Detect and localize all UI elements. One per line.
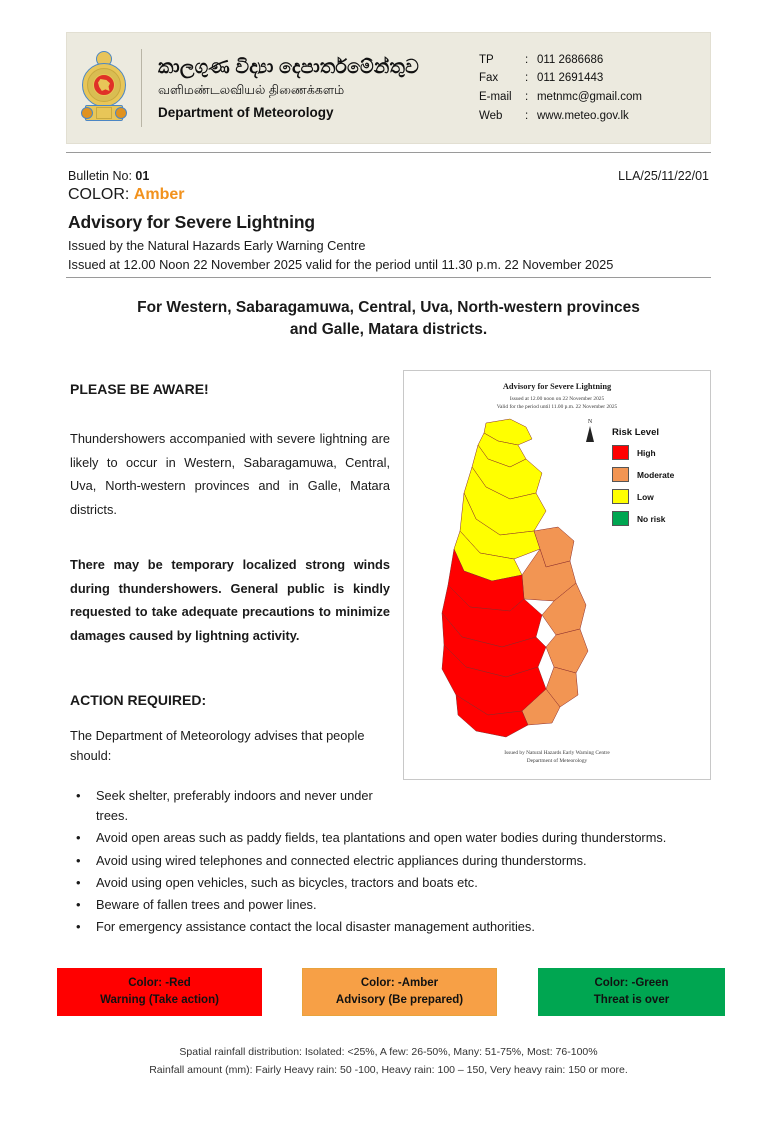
sri-lanka-government-emblem-icon: [81, 51, 127, 125]
footnote-line-1: Spatial rainfall distribution: Isolated:…: [68, 1044, 709, 1062]
map-footer-line-2: Department of Meteorology: [404, 757, 710, 765]
contact-value-fax: 011 2691443: [537, 69, 642, 88]
bulletin-color: COLOR: Amber: [68, 186, 709, 204]
legend-swatch-low: [612, 489, 629, 504]
department-name-sinhala: කාලගුණ විද්‍යා දෙපාර්තමේන්තුව: [158, 56, 419, 80]
map-subtitle-line-1: Issued at 12.00 noon on 22 November 2025: [404, 395, 710, 403]
action-required-heading: ACTION REQUIRED:: [70, 692, 206, 708]
list-item: Avoid using wired telephones and connect…: [92, 851, 717, 871]
sri-lanka-choropleth: [414, 415, 604, 745]
bulletin-reference: LLA/25/11/22/01: [618, 167, 709, 186]
footnote-line-2: Rainfall amount (mm): Fairly Heavy rain:…: [68, 1062, 709, 1080]
contact-value-web[interactable]: www.meteo.gov.lk: [537, 107, 642, 126]
department-name-english: Department of Meteorology: [158, 105, 419, 120]
contact-label-web: Web: [479, 107, 525, 126]
legend-swatch-no-risk: [612, 511, 629, 526]
contact-value-tp: 011 2686686: [537, 51, 642, 70]
map-subtitle: Issued at 12.00 noon on 22 November 2025…: [404, 395, 710, 411]
legend-item-no-risk: No risk: [612, 511, 708, 526]
contact-label-fax: Fax: [479, 69, 525, 88]
bulletin-number-value: 01: [135, 169, 149, 183]
map-footer: Issued by Natural Hazards Early Warning …: [404, 749, 710, 765]
color-key-row: Color: -Red Warning (Take action) Color:…: [57, 968, 725, 1016]
contact-label-email: E-mail: [479, 88, 525, 107]
contact-sep-email: :: [525, 88, 537, 107]
color-key-amber: Color: -Amber Advisory (Be prepared): [302, 968, 497, 1016]
department-names: කාලගුණ විද්‍යා දෙපාර්තමේන්තුව வளிமண்டலவி…: [158, 56, 419, 120]
map-title: Advisory for Severe Lightning: [404, 382, 710, 391]
validity-line: Issued at 12.00 Noon 22 November 2025 va…: [68, 257, 613, 272]
legend-label-moderate: Moderate: [637, 470, 674, 480]
bulletin-meta: Bulletin No: 01 LLA/25/11/22/01 COLOR: A…: [68, 167, 709, 204]
title-rule: [66, 277, 711, 278]
advisory-paragraph-2: There may be temporary localized strong …: [70, 553, 390, 648]
contact-sep-tp: :: [525, 51, 537, 70]
list-item: Avoid using open vehicles, such as bicyc…: [92, 873, 717, 893]
department-name-tamil: வளிமண்டலவியல் திணைக்களம்: [158, 81, 419, 100]
color-key-red-line-1: Color: -Red: [128, 975, 191, 992]
action-list: Seek shelter, preferably indoors and nev…: [70, 786, 717, 940]
letterhead-divider: [141, 49, 142, 127]
region-heading-line-1: For Western, Sabaragamuwa, Central, Uva,…: [68, 297, 709, 319]
color-key-amber-line-1: Color: -Amber: [361, 975, 438, 992]
legend-item-moderate: Moderate: [612, 467, 708, 482]
contact-row-email: E-mail : metnmc@gmail.com: [479, 88, 642, 107]
legend-item-high: High: [612, 445, 708, 460]
legend-label-no-risk: No risk: [637, 514, 665, 524]
list-item: For emergency assistance contact the loc…: [92, 917, 717, 937]
map-footer-line-1: Issued by Natural Hazards Early Warning …: [404, 749, 710, 757]
list-item: Avoid open areas such as paddy fields, t…: [92, 828, 717, 848]
map-subtitle-line-2: Valid for the period until 11.00 p.m. 22…: [404, 403, 710, 411]
legend-item-low: Low: [612, 489, 708, 504]
contact-value-email[interactable]: metnmc@gmail.com: [537, 88, 642, 107]
map-legend: Risk Level High Moderate Low No risk: [612, 427, 708, 533]
region-heading: For Western, Sabaragamuwa, Central, Uva,…: [68, 297, 709, 342]
color-value: Amber: [134, 186, 185, 203]
color-label: COLOR:: [68, 186, 129, 203]
color-key-green-line-2: Threat is over: [594, 992, 669, 1009]
legend-label-low: Low: [637, 492, 654, 502]
list-item: Beware of fallen trees and power lines.: [92, 895, 717, 915]
legend-label-high: High: [637, 448, 656, 458]
contact-row-fax: Fax : 011 2691443: [479, 69, 642, 88]
bulletin-number-label: Bulletin No:: [68, 169, 132, 183]
risk-map-panel: Advisory for Severe Lightning Issued at …: [403, 370, 711, 780]
color-key-amber-line-2: Advisory (Be prepared): [336, 992, 463, 1009]
issued-by-line: Issued by the Natural Hazards Early Warn…: [68, 238, 366, 253]
please-be-aware-heading: PLEASE BE AWARE!: [70, 381, 209, 397]
contact-sep-fax: :: [525, 69, 537, 88]
contact-row-tp: TP : 011 2686686: [479, 51, 642, 70]
rainfall-footnote: Spatial rainfall distribution: Isolated:…: [68, 1044, 709, 1080]
contact-label-tp: TP: [479, 51, 525, 70]
emblem-container: [67, 51, 141, 125]
advisory-paragraph-1: Thundershowers accompanied with severe l…: [70, 427, 390, 522]
list-item: Seek shelter, preferably indoors and nev…: [92, 786, 396, 826]
color-key-red: Color: -Red Warning (Take action): [57, 968, 262, 1016]
color-key-green: Color: -Green Threat is over: [538, 968, 725, 1016]
color-key-green-line-1: Color: -Green: [594, 975, 668, 992]
contact-block: TP : 011 2686686 Fax : 011 2691443 E-mai…: [479, 51, 642, 126]
contact-sep-web: :: [525, 107, 537, 126]
region-heading-line-2: and Galle, Matara districts.: [68, 319, 709, 341]
page-title: Advisory for Severe Lightning: [68, 212, 315, 233]
color-key-red-line-2: Warning (Take action): [100, 992, 219, 1009]
letterhead: කාලගුණ විද්‍යා දෙපාර්තමේන්තුව வளிமண்டலவி…: [66, 32, 711, 144]
header-rule: [66, 152, 711, 153]
legend-swatch-moderate: [612, 467, 629, 482]
contact-row-web: Web : www.meteo.gov.lk: [479, 107, 642, 126]
legend-swatch-high: [612, 445, 629, 460]
bulletin-number: Bulletin No: 01: [68, 167, 149, 186]
legend-title: Risk Level: [612, 427, 708, 438]
action-intro-text: The Department of Meteorology advises th…: [70, 726, 380, 767]
advisory-document: කාලගුණ විද්‍යා දෙපාර්තමේන්තුව வளிமண்டலவி…: [0, 0, 773, 1124]
